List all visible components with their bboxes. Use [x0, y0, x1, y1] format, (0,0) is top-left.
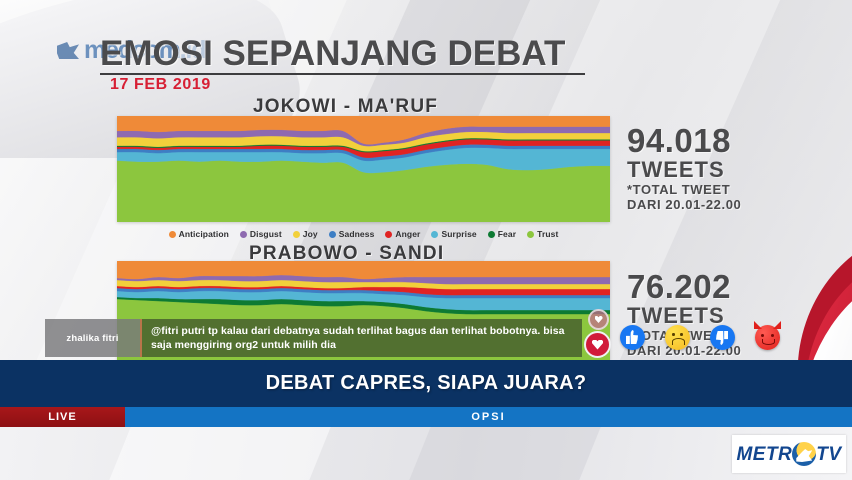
area-band-anticipation	[117, 261, 610, 279]
tweet-unit-prabowo: TWEETS	[627, 304, 741, 327]
legend-label: Fear	[498, 229, 516, 239]
eagle-icon	[792, 442, 816, 466]
legend-item-disgust: Disgust	[240, 229, 282, 239]
reaction-emoji-row	[620, 325, 780, 350]
legend-color-dot	[431, 231, 438, 238]
legend-label: Trust	[537, 229, 558, 239]
lower-third-footer	[0, 427, 852, 480]
tweet-note-jokowi-1: *TOTAL TWEET	[627, 183, 741, 198]
devil-face-icon	[755, 325, 780, 350]
tweet-count-prabowo: 76.202	[627, 270, 741, 303]
title-underline	[100, 73, 585, 75]
tweet-unit-jokowi: TWEETS	[627, 158, 741, 181]
legend-item-fear: Fear	[488, 229, 516, 239]
emotion-legend: AnticipationDisgustJoySadnessAngerSurpri…	[117, 226, 610, 242]
live-badge: LIVE	[0, 407, 125, 427]
lower-third-headline-bar: DEBAT CAPRES, SIAPA JUARA?	[0, 360, 852, 407]
tweet-count-jokowi: 94.018	[627, 124, 741, 157]
metro-tv-logo: METR TV	[732, 435, 846, 473]
program-bar: OPSI	[125, 407, 852, 427]
legend-color-dot	[169, 231, 176, 238]
legend-item-joy: Joy	[293, 229, 318, 239]
thumbs-up-icon	[620, 325, 645, 350]
tweet-body: @fitri putri tp kalau dari debatnya suda…	[140, 319, 582, 357]
page-title: EMOSI SEPANJANG DEBAT	[100, 36, 620, 71]
legend-color-dot	[385, 231, 392, 238]
legend-color-dot	[488, 231, 495, 238]
legend-color-dot	[329, 231, 336, 238]
legend-label: Anticipation	[179, 229, 229, 239]
metro-logo-right: TV	[816, 445, 841, 464]
lower-third-headline: DEBAT CAPRES, SIAPA JUARA?	[266, 372, 587, 395]
sad-face-icon	[665, 325, 690, 350]
legend-color-dot	[240, 231, 247, 238]
legend-label: Sadness	[339, 229, 375, 239]
program-label: OPSI	[471, 411, 505, 423]
legend-label: Joy	[303, 229, 318, 239]
panel-heading-jokowi: JOKOWI - MA'RUF	[253, 96, 438, 118]
chart-jokowi-svg	[117, 116, 610, 222]
broadcast-date: 17 FEB 2019	[110, 76, 211, 94]
medcom-bird-icon	[57, 42, 79, 59]
legend-item-anger: Anger	[385, 229, 420, 239]
tweet-text: @fitri putri tp kalau dari debatnya suda…	[151, 324, 576, 352]
heart-reaction-icon	[584, 331, 611, 358]
stats-jokowi: 94.018 TWEETS *TOTAL TWEET DARI 20.01-22…	[627, 124, 741, 213]
legend-label: Surprise	[441, 229, 476, 239]
tweet-note-jokowi-2: DARI 20.01-22.00	[627, 198, 741, 213]
legend-label: Disgust	[250, 229, 282, 239]
legend-item-sadness: Sadness	[329, 229, 375, 239]
tweet-overlay: zhalika fitri @fitri putri tp kalau dari…	[45, 319, 582, 357]
tweet-username: zhalika fitri	[45, 319, 140, 357]
chart-jokowi-maruf	[117, 116, 610, 222]
legend-item-anticipation: Anticipation	[169, 229, 229, 239]
live-label: LIVE	[48, 411, 76, 423]
legend-color-dot	[293, 231, 300, 238]
thumbs-down-icon	[710, 325, 735, 350]
metro-logo-left: METR	[736, 445, 792, 464]
lower-third-status-bar: LIVE OPSI	[0, 407, 852, 427]
legend-item-trust: Trust	[527, 229, 558, 239]
broadcast-screen: medcom.id EMOSI SEPANJANG DEBAT 17 FEB 2…	[0, 0, 852, 480]
heart-reaction-icon	[588, 309, 609, 330]
legend-color-dot	[527, 231, 534, 238]
legend-label: Anger	[395, 229, 420, 239]
legend-item-surprise: Surprise	[431, 229, 476, 239]
